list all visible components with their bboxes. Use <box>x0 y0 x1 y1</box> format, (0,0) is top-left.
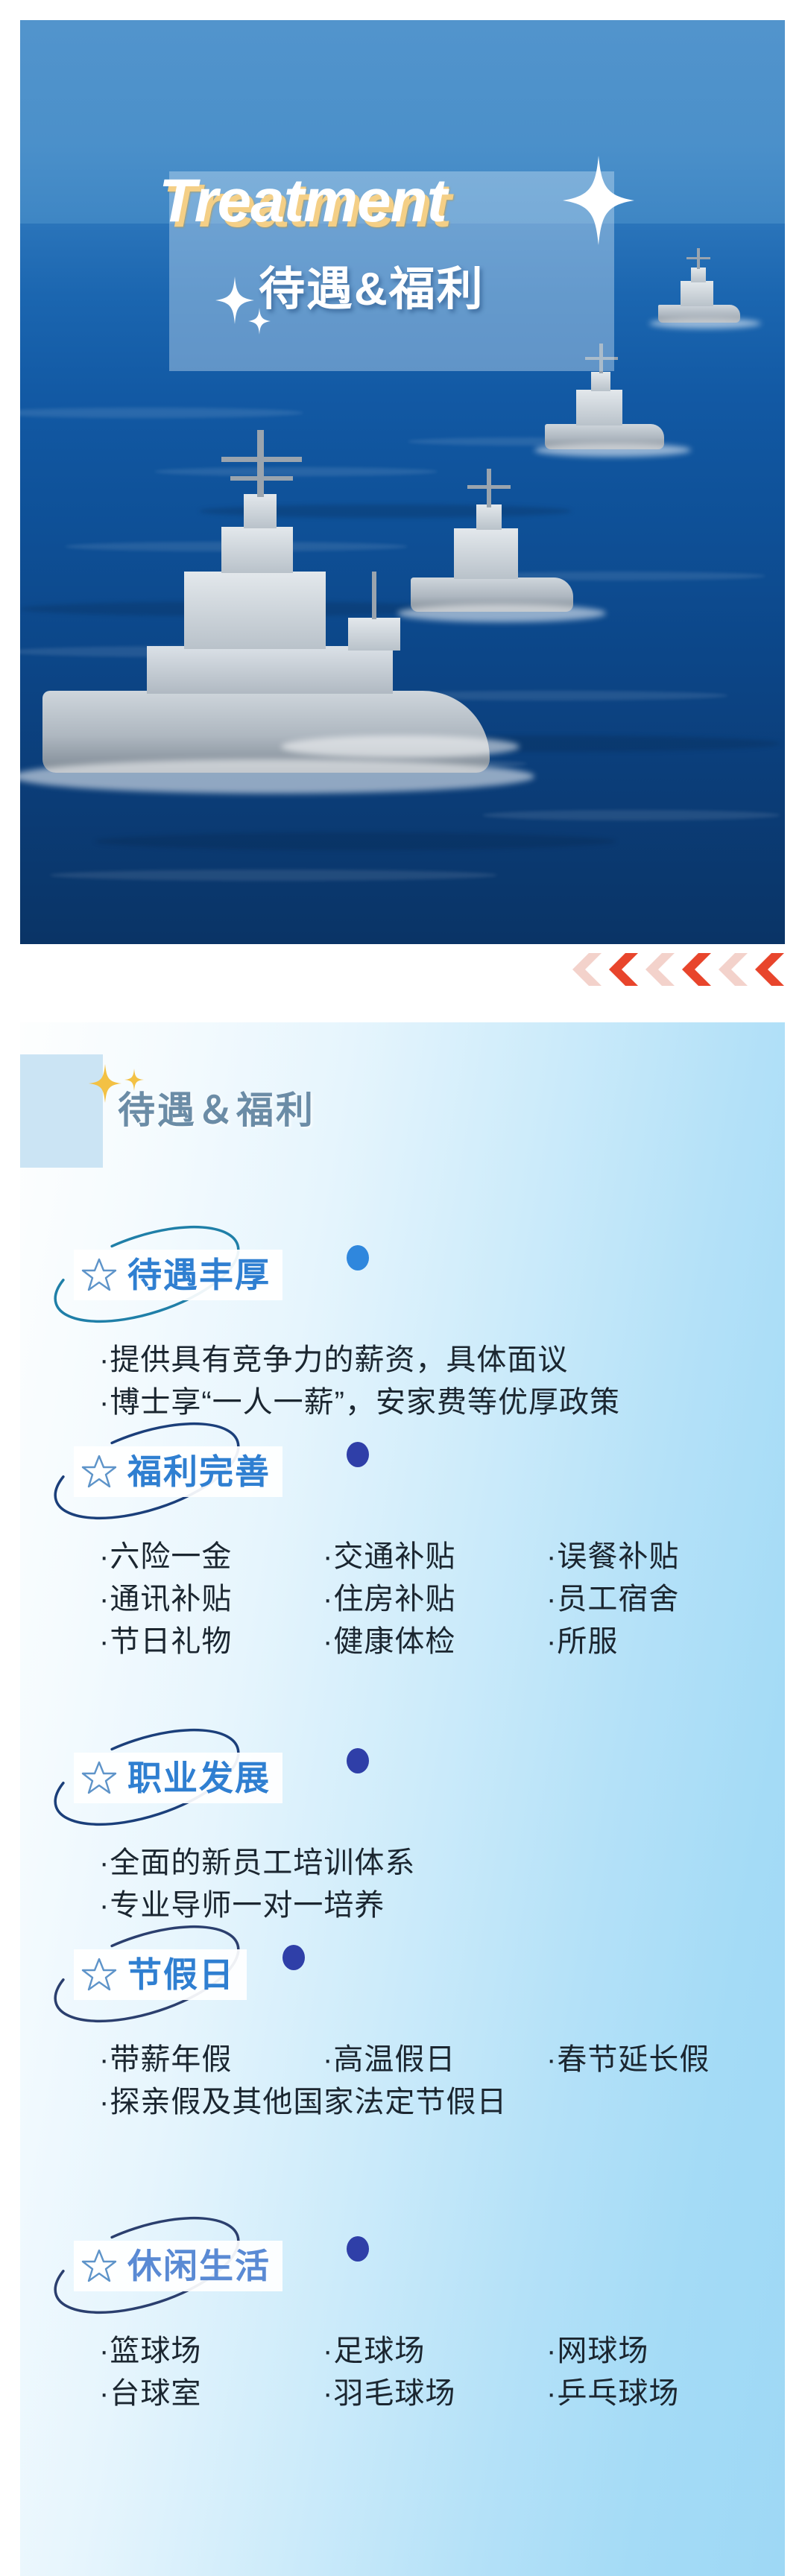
benefit-block-holidays: 节假日 ·带薪年假 ·高温假日 ·春节延长假 ·探亲假及其他国家法定节假日 <box>20 1943 785 2007</box>
chevron-left-icon <box>566 953 602 986</box>
benefit-block-leisure: 休闲生活 ·篮球场 ·足球场 ·网球场 ·台球室 ·羽毛球场 ·乒乓球场 <box>20 2235 785 2299</box>
list-cell: ·带薪年假 <box>99 2039 323 2081</box>
list-cell: ·羽毛球场 <box>323 2373 546 2415</box>
star-outline-icon <box>81 1760 117 1796</box>
block-label-plate: 节假日 <box>74 1949 247 2000</box>
block-label: 节假日 <box>127 1958 235 1992</box>
list-item: ·专业导师一对一培养 <box>99 1884 770 1927</box>
block-accent-dot <box>347 1442 369 1467</box>
benefits-panel: 待遇＆福利 待遇丰厚 ·提供具有竞争力的薪资，具体面议 ·博士享“一人一薪”，安… <box>20 1022 785 2576</box>
benefit-block-benefits: 福利完善 ·六险一金 ·交通补贴 ·误餐补贴 ·通讯补贴 ·住房补贴 ·员工宿舍… <box>20 1440 785 1504</box>
star-outline-icon <box>81 2248 117 2284</box>
block-label: 职业发展 <box>127 1761 271 1795</box>
block-label: 福利完善 <box>127 1455 271 1489</box>
list-item: ·提供具有竞争力的薪资，具体面议 <box>99 1339 770 1382</box>
list-item: ·六险一金 ·交通补贴 ·误餐补贴 <box>99 1536 770 1578</box>
list-item: ·带薪年假 ·高温假日 ·春节延长假 <box>99 2039 770 2081</box>
benefit-block-compensation: 待遇丰厚 ·提供具有竞争力的薪资，具体面议 ·博士享“一人一薪”，安家费等优厚政… <box>20 1244 785 1308</box>
list-cell: ·误餐补贴 <box>546 1536 770 1578</box>
list-item: ·博士享“一人一薪”，安家费等优厚政策 <box>99 1382 770 1424</box>
list-cell: ·通讯补贴 <box>99 1578 323 1621</box>
chevron-left-icon <box>676 953 711 986</box>
star-outline-icon <box>81 1257 117 1293</box>
list-item: ·篮球场 ·足球场 ·网球场 <box>99 2330 770 2373</box>
list-cell: ·所服 <box>546 1621 770 1663</box>
poster-page: Treatment 待遇&福利 待遇＆福利 <box>0 0 805 2576</box>
list-item: ·节日礼物 ·健康体检 ·所服 <box>99 1621 770 1663</box>
block-label-plate: 职业发展 <box>74 1753 282 1803</box>
chevron-left-icon <box>603 953 638 986</box>
list-cell: ·春节延长假 <box>546 2039 770 2081</box>
block-accent-dot <box>282 1945 305 1970</box>
block-lines: ·六险一金 ·交通补贴 ·误餐补贴 ·通讯补贴 ·住房补贴 ·员工宿舍 ·节日礼… <box>99 1536 770 1662</box>
list-cell: ·篮球场 <box>99 2330 323 2373</box>
list-cell: ·足球场 <box>323 2330 546 2373</box>
list-cell: ·网球场 <box>546 2330 770 2373</box>
star-outline-icon <box>81 1957 117 1993</box>
block-header: 职业发展 <box>20 1747 785 1811</box>
block-accent-dot <box>347 2236 369 2262</box>
list-item: ·探亲假及其他国家法定节假日 <box>99 2081 770 2124</box>
list-cell: ·健康体检 <box>323 1621 546 1663</box>
block-lines: ·提供具有竞争力的薪资，具体面议 ·博士享“一人一薪”，安家费等优厚政策 <box>99 1339 770 1424</box>
list-cell: ·交通补贴 <box>323 1536 546 1578</box>
ship-distant-3 <box>654 244 743 333</box>
hero-title-chinese: 待遇&福利 <box>259 251 484 318</box>
block-accent-dot <box>347 1748 369 1773</box>
block-lines: ·全面的新员工培训体系 ·专业导师一对一培养 <box>99 1842 770 1927</box>
list-item: ·通讯补贴 ·住房补贴 ·员工宿舍 <box>99 1578 770 1621</box>
block-label-plate: 待遇丰厚 <box>74 1250 282 1300</box>
list-cell: ·乒乓球场 <box>546 2373 770 2415</box>
block-header: 福利完善 <box>20 1440 785 1504</box>
benefit-block-career: 职业发展 ·全面的新员工培训体系 ·专业导师一对一培养 <box>20 1747 785 1811</box>
hero-banner: Treatment 待遇&福利 <box>20 20 785 944</box>
hero-title-english: Treatment <box>159 166 446 236</box>
sparkle-gold-large-icon <box>89 1064 121 1103</box>
block-accent-dot <box>347 1245 369 1270</box>
chevron-left-icon <box>749 953 784 986</box>
block-label: 待遇丰厚 <box>127 1258 271 1292</box>
sparkle-large-icon <box>563 156 634 245</box>
list-cell: ·高温假日 <box>323 2039 546 2081</box>
list-cell: ·员工宿舍 <box>546 1578 770 1621</box>
list-item: ·全面的新员工培训体系 <box>99 1842 770 1884</box>
block-header: 休闲生活 <box>20 2235 785 2299</box>
list-cell: ·节日礼物 <box>99 1621 323 1663</box>
ship-foreground <box>35 423 497 840</box>
sparkle-small-icon <box>248 308 271 335</box>
section-title: 待遇＆福利 <box>118 1080 315 1134</box>
block-lines: ·带薪年假 ·高温假日 ·春节延长假 ·探亲假及其他国家法定节假日 <box>99 2039 770 2124</box>
block-label: 休闲生活 <box>127 2249 271 2283</box>
list-cell: ·台球室 <box>99 2373 323 2415</box>
block-label-plate: 休闲生活 <box>74 2241 282 2291</box>
block-header: 待遇丰厚 <box>20 1244 785 1308</box>
chevron-divider <box>566 953 785 986</box>
star-outline-icon <box>81 1454 117 1490</box>
block-lines: ·篮球场 ·足球场 ·网球场 ·台球室 ·羽毛球场 ·乒乓球场 <box>99 2330 770 2415</box>
list-cell: ·住房补贴 <box>323 1578 546 1621</box>
chevron-left-icon <box>640 953 675 986</box>
block-label-plate: 福利完善 <box>74 1446 282 1497</box>
list-item: ·台球室 ·羽毛球场 ·乒乓球场 <box>99 2373 770 2415</box>
block-header: 节假日 <box>20 1943 785 2007</box>
chevron-left-icon <box>713 953 748 986</box>
list-cell: ·六险一金 <box>99 1536 323 1578</box>
